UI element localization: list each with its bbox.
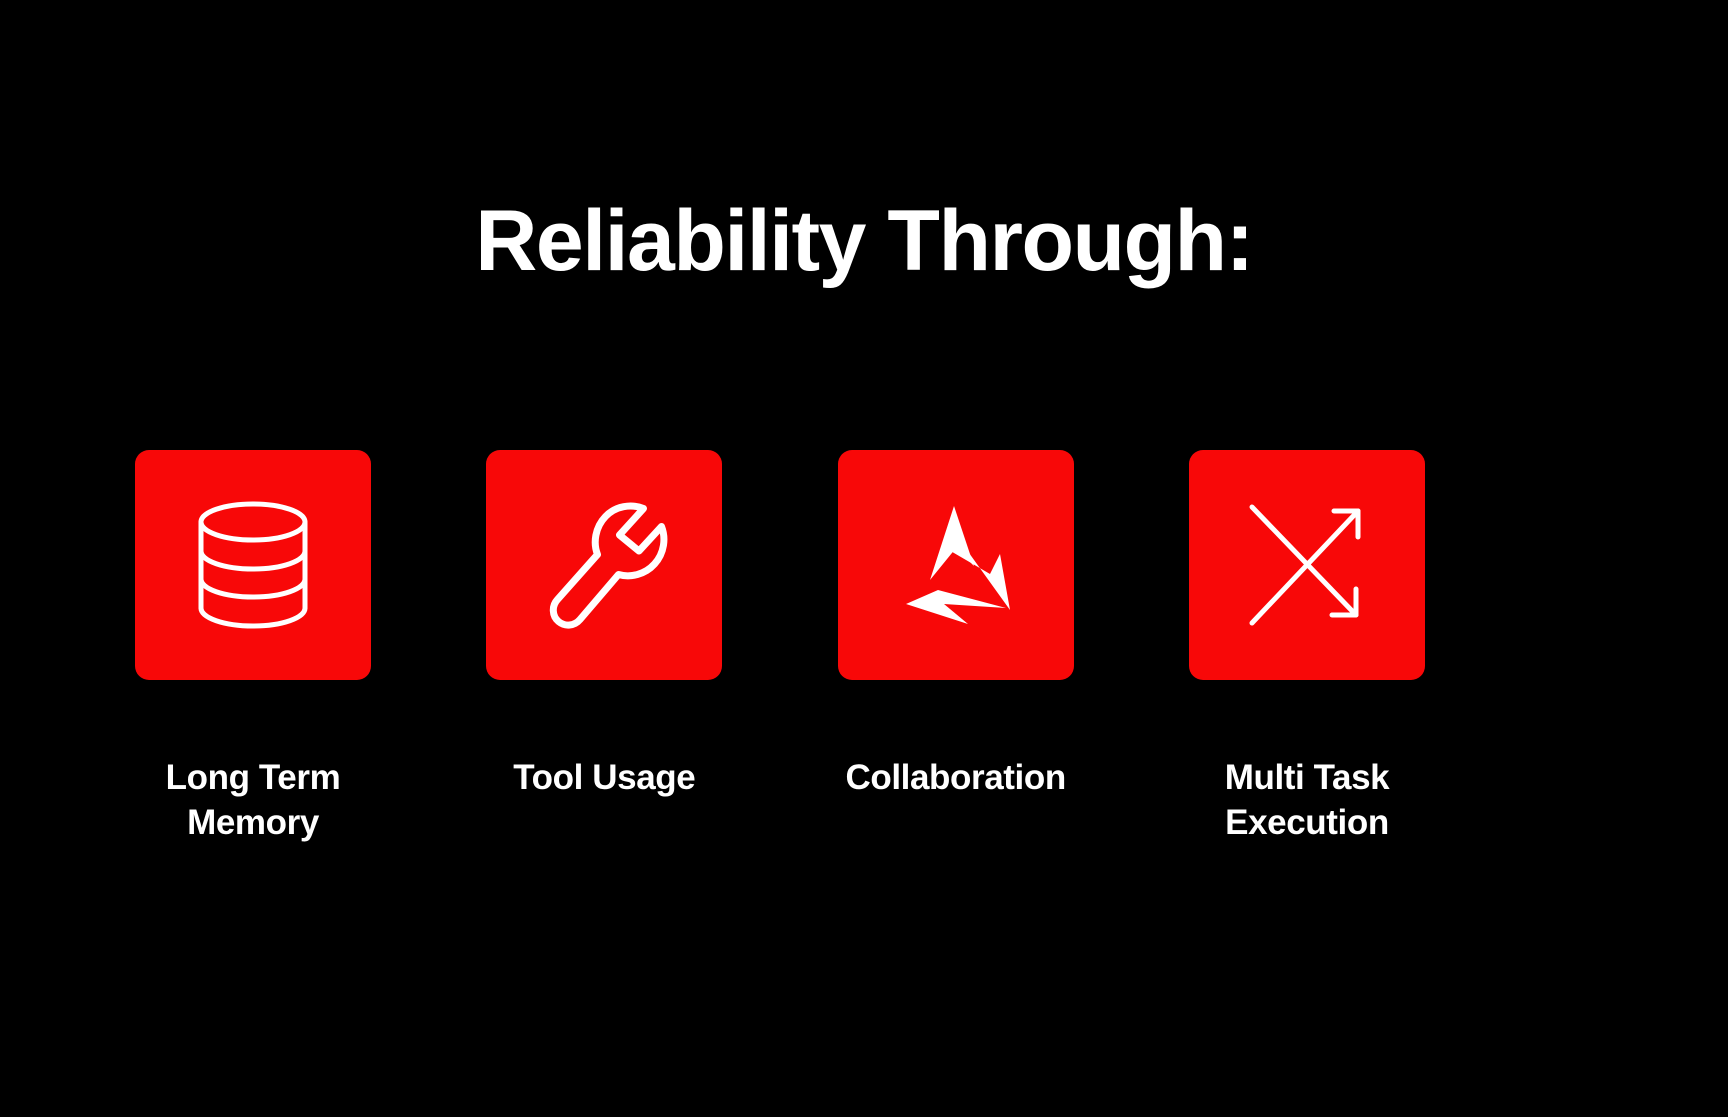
feature-card-label: Multi TaskExecution <box>1157 756 1457 846</box>
feature-card-label-line2: Execution <box>1225 803 1389 842</box>
feature-card-label-line1: Long Term <box>166 758 341 797</box>
feature-card-long-term-memory[interactable]: Long TermMemory <box>135 450 371 846</box>
feature-card-multi-task-execution[interactable]: Multi TaskExecution <box>1189 450 1425 846</box>
feature-card-label-line2: Memory <box>187 803 319 842</box>
icon-tile[interactable] <box>135 450 371 680</box>
page-title: Reliability Through: <box>0 196 1728 286</box>
feature-card-label: Long TermMemory <box>103 756 403 846</box>
database-icon <box>194 501 312 629</box>
feature-card-collaboration[interactable]: Collaboration <box>838 450 1074 801</box>
feature-card-label: Tool Usage <box>454 756 754 801</box>
icon-tile[interactable] <box>486 450 722 680</box>
icon-tile[interactable] <box>1189 450 1425 680</box>
feature-card-label-line1: Tool Usage <box>513 758 695 797</box>
slide-root: Reliability Through: Long TermMemory <box>0 0 1728 1117</box>
icon-tile[interactable] <box>838 450 1074 680</box>
wrench-icon <box>539 499 669 631</box>
feature-card-label-line1: Collaboration <box>845 758 1065 797</box>
shuffle-arrows-icon <box>1244 501 1370 629</box>
cycle-arrows-icon <box>890 502 1022 628</box>
feature-card-row: Long TermMemory Tool Usage <box>135 450 1425 870</box>
feature-card-tool-usage[interactable]: Tool Usage <box>486 450 722 801</box>
feature-card-label: Collaboration <box>806 756 1106 801</box>
feature-card-label-line1: Multi Task <box>1225 758 1390 797</box>
